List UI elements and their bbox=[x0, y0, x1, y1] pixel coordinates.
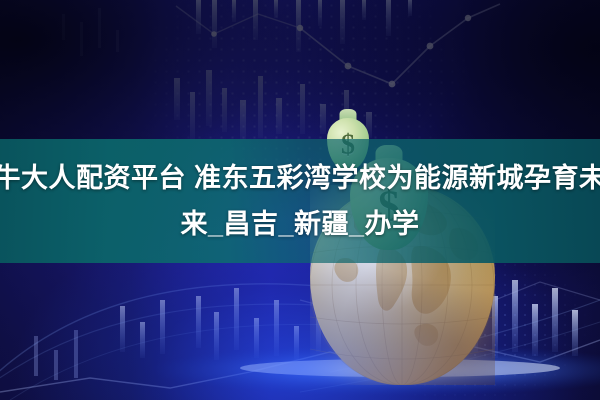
headline-line-2: 来_昌吉_新疆_办学 bbox=[180, 202, 419, 246]
banner-image: $ $ 牛大人配资平台 准东五彩湾学校为能源新城孕育未 来_昌吉_新疆_办学 bbox=[0, 0, 600, 400]
headline-line-1: 牛大人配资平台 准东五彩湾学校为能源新城孕育未 bbox=[0, 156, 600, 200]
headline-text: 牛大人配资平台 准东五彩湾学校为能源新城孕育未 来_昌吉_新疆_办学 bbox=[0, 139, 600, 263]
